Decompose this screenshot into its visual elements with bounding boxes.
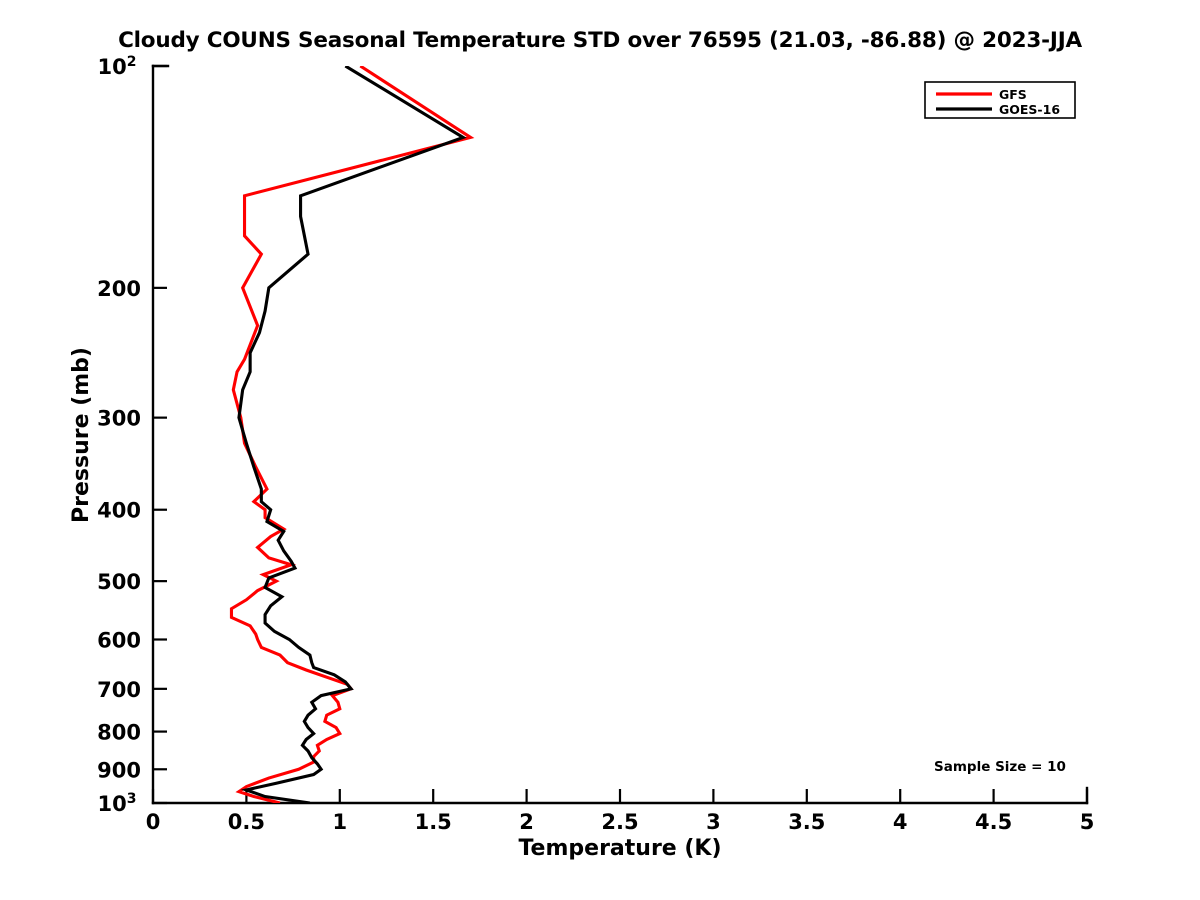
chart-figure: Cloudy COUNS Seasonal Temperature STD ov… [0,0,1200,900]
y-tick-label-200: 200 [97,277,141,301]
x-tick-label-2: 2 [519,810,534,834]
legend-label-goes16: GOES-16 [999,102,1060,117]
x-axis-tick-labels: 00.511.522.533.544.55 [146,810,1095,834]
y-axis-tick-labels: 102200300400500600700800900103 [97,54,141,816]
y-tick-label-100: 102 [98,54,137,79]
sample-size-annotation: Sample Size = 10 [934,759,1066,775]
y-tick-label-300: 300 [97,407,141,431]
y-tick-label-400: 400 [97,499,141,523]
x-tick-label-0.5: 0.5 [228,810,265,834]
x-tick-label-0: 0 [146,810,161,834]
x-tick-label-2.5: 2.5 [601,810,638,834]
y-tick-label-600: 600 [97,628,141,652]
legend-label-gfs: GFS [999,87,1027,102]
legend[interactable]: GFS GOES-16 [925,82,1075,118]
data-series-group [231,66,470,803]
series-line-goes-16 [239,66,463,803]
y-tick-label-700: 700 [97,678,141,702]
x-tick-label-1: 1 [332,810,347,834]
x-axis-title: Temperature (K) [518,836,721,861]
x-tick-label-5: 5 [1080,810,1095,834]
x-tick-label-1.5: 1.5 [415,810,452,834]
plot-canvas: 102200300400500600700800900103 00.511.52… [0,0,1200,900]
y-axis-ticks [153,66,167,803]
y-tick-label-800: 800 [97,721,141,745]
y-tick-label-500: 500 [97,570,141,594]
x-tick-label-4: 4 [893,810,908,834]
y-tick-label-900: 900 [97,758,141,782]
x-tick-label-3.5: 3.5 [788,810,825,834]
x-tick-label-3: 3 [706,810,721,834]
y-axis-title: Pressure (mb) [69,347,94,523]
y-tick-label-1000: 103 [98,791,137,816]
axis-spines [153,66,1087,803]
x-tick-label-4.5: 4.5 [975,810,1012,834]
